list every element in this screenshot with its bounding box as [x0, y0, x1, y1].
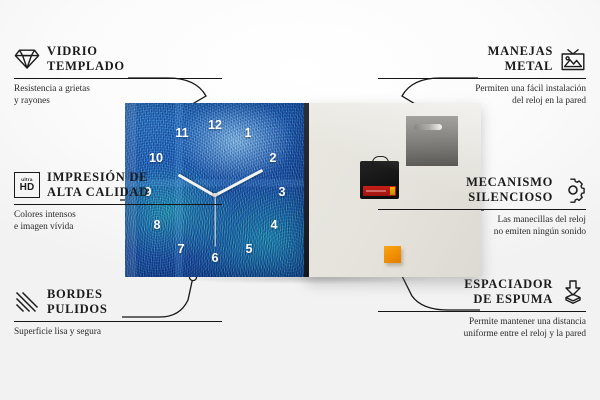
gear-icon	[560, 177, 586, 203]
feature-subtitle-line2: e imagen vívida	[14, 221, 222, 233]
feature-subtitle-line2: del reloj en la pared	[378, 95, 586, 107]
feature-subtitle-line1: Permiten una fácil instalación	[378, 83, 586, 95]
foam-spacer-icon	[560, 279, 586, 305]
diamond-icon	[14, 46, 40, 72]
feature-vidrio-templado: VIDRIO TEMPLADO Resistencia a grietas y …	[14, 44, 222, 107]
clock-numeral-2: 2	[269, 151, 276, 165]
clock-numeral-5: 5	[245, 242, 252, 256]
feature-title-line1: BORDES	[47, 287, 107, 302]
feature-subtitle: Permiten una fácil instalación del reloj…	[378, 83, 586, 108]
clock-numeral-3: 3	[278, 185, 285, 199]
feature-title-line1: VIDRIO	[47, 44, 125, 59]
mechanism-hanger-loop	[372, 156, 389, 166]
feature-title: MECANISMO SILENCIOSO	[466, 175, 553, 206]
feature-subtitle: Las manecillas del reloj no emiten ningú…	[378, 214, 586, 239]
feature-title-line1: MECANISMO	[466, 175, 553, 190]
feature-subtitle-line1: Resistencia a grietas	[14, 83, 222, 95]
ultra-hd-icon-large-text: HD	[20, 183, 35, 193]
feature-subtitle: Colores intensos e imagen vívida	[14, 209, 222, 234]
clock-numeral-4: 4	[270, 218, 277, 232]
feature-title-line2: PULIDOS	[47, 302, 107, 317]
feature-rule	[14, 321, 222, 322]
feature-title-line1: ESPACIADOR	[464, 277, 553, 292]
feature-subtitle-line2: uniforme entre el reloj y la pared	[378, 328, 586, 340]
feature-rule	[378, 209, 586, 210]
feature-impresion-alta-calidad: ultra HD IMPRESIÓN DE ALTA CALIDAD Color…	[14, 170, 222, 233]
ultra-hd-icon: ultra HD	[14, 172, 40, 198]
feature-heading-row: BORDES PULIDOS	[14, 287, 222, 318]
feature-subtitle-line2: no emiten ningún sonido	[378, 226, 586, 238]
picture-hanger-icon	[560, 46, 586, 72]
feature-title-line2: METAL	[488, 59, 553, 74]
feature-title: MANEJAS METAL	[488, 44, 553, 75]
clock-numeral-10: 10	[149, 151, 163, 165]
feature-rule	[14, 204, 222, 205]
feature-title-line2: ALTA CALIDAD	[47, 185, 149, 200]
infographic-canvas: 12 1 2 3 4 5 6 7 8 9 10 11	[0, 0, 600, 400]
feature-title: ESPACIADOR DE ESPUMA	[464, 277, 553, 308]
feature-title: IMPRESIÓN DE ALTA CALIDAD	[47, 170, 149, 201]
feature-subtitle: Permite mantener una distancia uniforme …	[378, 316, 586, 341]
foam-spacer	[384, 246, 401, 263]
polished-edges-icon	[14, 289, 40, 315]
feature-title-line1: IMPRESIÓN DE	[47, 170, 149, 185]
feature-title-line1: MANEJAS	[488, 44, 553, 59]
feature-title-line2: DE ESPUMA	[464, 292, 553, 307]
feature-subtitle-line1: Colores intensos	[14, 209, 222, 221]
feature-heading-row: MECANISMO SILENCIOSO	[378, 175, 586, 206]
feature-heading-row: ultra HD IMPRESIÓN DE ALTA CALIDAD	[14, 170, 222, 201]
feature-heading-row: ESPACIADOR DE ESPUMA	[378, 277, 586, 308]
clock-numeral-6: 6	[211, 251, 218, 265]
clock-numeral-1: 1	[244, 126, 251, 140]
clock-numeral-7: 7	[177, 242, 184, 256]
feature-heading-row: MANEJAS METAL	[378, 44, 586, 75]
clock-numeral-11: 11	[175, 126, 188, 140]
feature-subtitle-line1: Permite mantener una distancia	[378, 316, 586, 328]
feature-subtitle-line1: Superficie lisa y segura	[14, 326, 222, 338]
feature-title-line2: TEMPLADO	[47, 59, 125, 74]
hanger-slot	[414, 124, 442, 130]
clock-numeral-12: 12	[208, 118, 222, 132]
feature-rule	[378, 311, 586, 312]
feature-bordes-pulidos: BORDES PULIDOS Superficie lisa y segura	[14, 287, 222, 338]
feature-manejas-metal: MANEJAS METAL Permiten una fácil instala…	[378, 44, 586, 107]
feature-title: BORDES PULIDOS	[47, 287, 107, 318]
feature-subtitle-line1: Las manecillas del reloj	[378, 214, 586, 226]
feature-subtitle: Superficie lisa y segura	[14, 326, 222, 338]
feature-heading-row: VIDRIO TEMPLADO	[14, 44, 222, 75]
feature-title-line2: SILENCIOSO	[466, 190, 553, 205]
feature-title: VIDRIO TEMPLADO	[47, 44, 125, 75]
feature-rule	[14, 78, 222, 79]
feature-espaciador-espuma: ESPACIADOR DE ESPUMA Permite mantener un…	[378, 277, 586, 340]
metal-hanger-plate	[406, 116, 458, 166]
feature-subtitle: Resistencia a grietas y rayones	[14, 83, 222, 108]
feature-subtitle-line2: y rayones	[14, 95, 222, 107]
feature-mecanismo-silencioso: MECANISMO SILENCIOSO Las manecillas del …	[378, 175, 586, 238]
feature-rule	[378, 78, 586, 79]
